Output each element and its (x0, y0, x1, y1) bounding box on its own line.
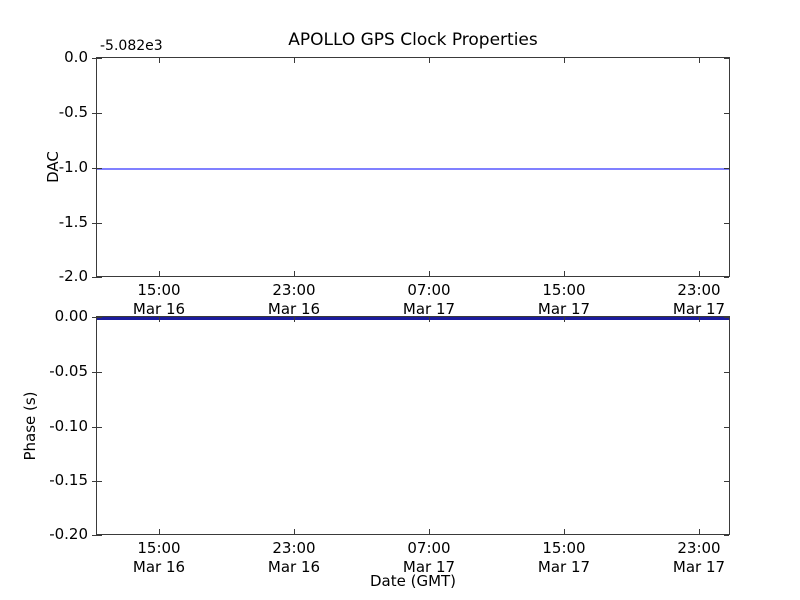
y-axis-offset-text: -5.082e3 (100, 38, 163, 54)
x-tick-mark-top (699, 58, 700, 63)
x-tick-mark (159, 529, 160, 534)
x-tick-mark (294, 529, 295, 534)
x-tick-mark-top (564, 58, 565, 63)
x-tick-label: 15:00 Mar 16 (104, 281, 214, 319)
x-axis-label: Date (GMT) (96, 572, 730, 590)
y-tick-label: -0.05 (18, 364, 88, 379)
y-tick-mark-right (724, 481, 729, 482)
x-tick-label: 07:00 Mar 17 (374, 281, 484, 319)
y-tick-label: 0.00 (18, 309, 88, 324)
y-tick-label: -0.20 (18, 527, 88, 542)
x-tick-mark (564, 271, 565, 276)
y-tick-mark-inner (97, 58, 102, 59)
y-tick-mark-inner (97, 113, 102, 114)
y-tick-mark-inner (97, 277, 102, 278)
chart-title: APOLLO GPS Clock Properties (96, 30, 730, 50)
x-tick-mark (429, 271, 430, 276)
y-tick-label: -0.10 (18, 419, 88, 434)
y-tick-label: -1.5 (18, 215, 88, 230)
x-tick-label-time: 15:00 (509, 539, 619, 558)
data-region-dac (97, 58, 729, 276)
x-tick-label-time: 23:00 (239, 539, 349, 558)
y-tick-mark-right (724, 113, 729, 114)
x-tick-mark (699, 529, 700, 534)
x-tick-mark (699, 271, 700, 276)
x-tick-label: 23:00 Mar 17 (644, 281, 754, 319)
y-tick-mark-inner (97, 427, 102, 428)
y-tick-mark-right (724, 277, 729, 278)
x-tick-mark-top (699, 317, 700, 322)
y-tick-label: -1.0 (18, 160, 88, 175)
y-tick-mark-inner (97, 223, 102, 224)
x-tick-mark-top (294, 317, 295, 322)
data-series-dac (97, 168, 729, 170)
x-tick-label-time: 23:00 (644, 281, 754, 300)
y-tick-mark-right (724, 223, 729, 224)
y-tick-mark-right (724, 58, 729, 59)
y-tick-label: 0.0 (18, 50, 88, 65)
x-tick-label-time: 15:00 (509, 281, 619, 300)
y-tick-mark-right (724, 372, 729, 373)
x-tick-mark-top (429, 317, 430, 322)
plot-area-phase: 0.00 -0.05 -0.10 -0.15 -0.20 15:00 Mar 1… (96, 316, 730, 535)
y-tick-mark-right (724, 168, 729, 169)
matplotlib-figure: APOLLO GPS Clock Properties -5.082e3 DAC… (0, 0, 800, 600)
plot-area-dac: 0.0 -0.5 -1.0 -1.5 -2.0 15:00 Mar 16 23:… (96, 57, 730, 277)
x-tick-mark-top (159, 58, 160, 63)
x-tick-label-time: 23:00 (239, 281, 349, 300)
y-tick-mark-right (724, 535, 729, 536)
y-tick-mark-right (724, 317, 729, 318)
y-tick-mark-inner (97, 481, 102, 482)
x-tick-mark (564, 529, 565, 534)
data-series-phase (97, 317, 729, 320)
data-region-phase (97, 317, 729, 534)
x-tick-label-time: 23:00 (644, 539, 754, 558)
x-tick-label-time: 07:00 (374, 281, 484, 300)
y-tick-label: -0.15 (18, 473, 88, 488)
y-tick-mark-inner (97, 535, 102, 536)
y-tick-label: -2.0 (18, 269, 88, 284)
x-tick-mark-top (564, 317, 565, 322)
y-tick-mark-inner (97, 168, 102, 169)
y-tick-mark-inner (97, 317, 102, 318)
x-tick-mark-top (159, 317, 160, 322)
x-tick-label: 15:00 Mar 17 (509, 281, 619, 319)
x-tick-label-time: 07:00 (374, 539, 484, 558)
x-tick-label-time: 15:00 (104, 539, 214, 558)
x-tick-mark (159, 271, 160, 276)
x-tick-label-time: 15:00 (104, 281, 214, 300)
x-tick-mark-top (294, 58, 295, 63)
y-tick-label: -0.5 (18, 105, 88, 120)
y-tick-mark-right (724, 427, 729, 428)
x-tick-mark (429, 529, 430, 534)
x-tick-label: 23:00 Mar 16 (239, 281, 349, 319)
y-tick-mark-inner (97, 372, 102, 373)
x-tick-mark (294, 271, 295, 276)
x-tick-mark-top (429, 58, 430, 63)
